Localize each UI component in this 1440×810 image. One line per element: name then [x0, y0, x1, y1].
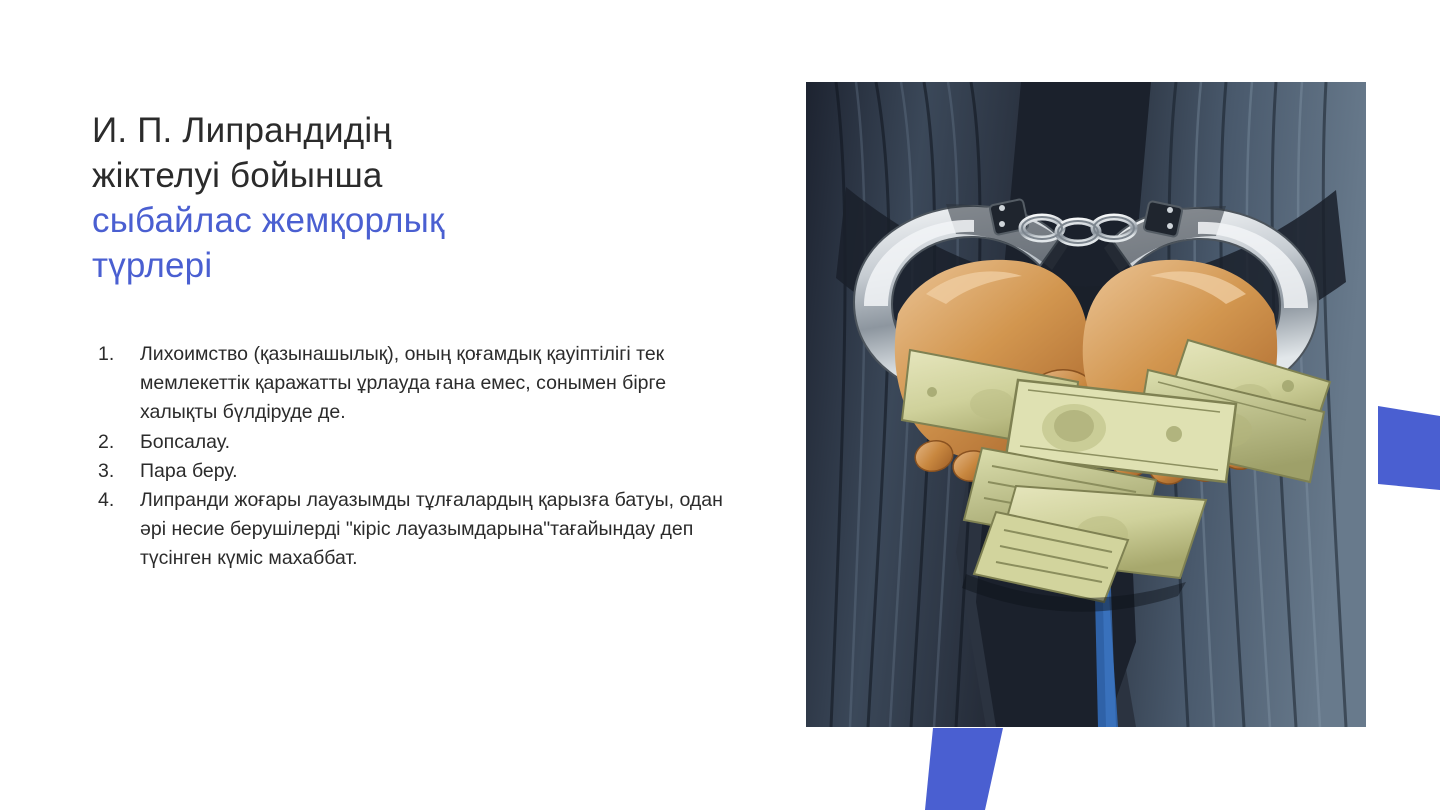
list-item: 2. Бопсалау.: [95, 428, 735, 457]
list-item: 3. Пара беру.: [95, 457, 735, 486]
list-item-number: 3.: [98, 457, 132, 486]
bottom-accent-parallelogram: [900, 728, 1015, 810]
right-accent-parallelogram: [1378, 398, 1440, 490]
list-item-text: Липранди жоғары лауазымды тұлғалардың қа…: [140, 486, 735, 574]
title-line-3: сыбайлас жемқорлық: [92, 198, 692, 243]
list-item-text: Бопсалау.: [140, 428, 735, 457]
slide-canvas: И. П. Липрандидің жіктелуі бойынша сыбай…: [0, 0, 1440, 810]
title-line-2: жіктелуі бойынша: [92, 153, 692, 198]
content-list: 1. Лихоимство (қазынашылық), оның қоғамд…: [95, 340, 735, 574]
list-item-text: Лихоимство (қазынашылық), оның қоғамдық …: [140, 340, 735, 428]
list-item-number: 4.: [98, 486, 132, 515]
title-line-4: түрлері: [92, 243, 692, 288]
page-title: И. П. Липрандидің жіктелуі бойынша сыбай…: [92, 108, 692, 288]
list-item-number: 1.: [98, 340, 132, 369]
list-item-number: 2.: [98, 428, 132, 457]
list-item-text: Пара беру.: [140, 457, 735, 486]
title-line-1: И. П. Липрандидің: [92, 108, 692, 153]
list-item: 4. Липранди жоғары лауазымды тұлғалардың…: [95, 486, 735, 574]
list-item: 1. Лихоимство (қазынашылық), оның қоғамд…: [95, 340, 735, 428]
handcuffed-hands-holding-money-illustration: [806, 82, 1366, 727]
